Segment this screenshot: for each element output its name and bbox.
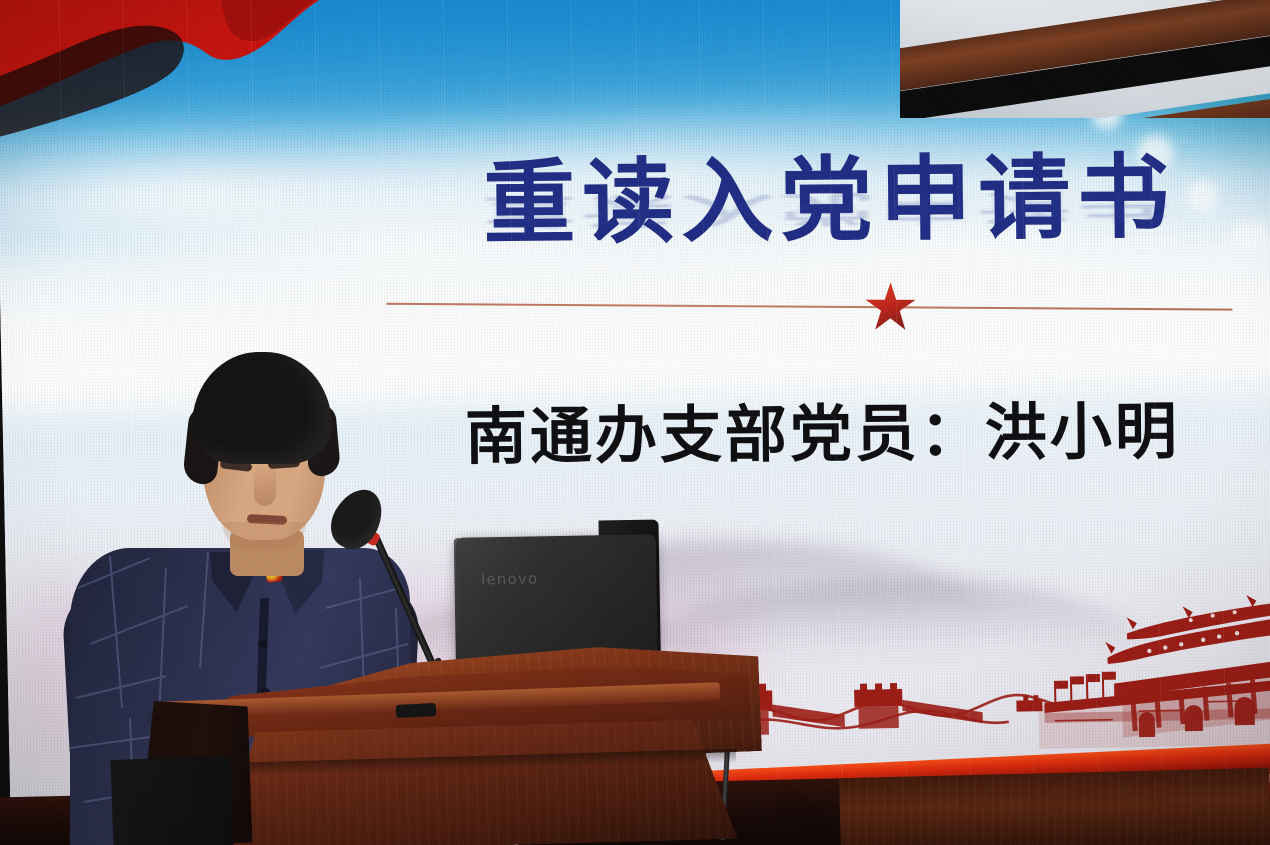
great-wall-tiananmen-artwork xyxy=(696,594,1270,756)
shirt-button-upper xyxy=(258,640,267,649)
lenovo-logo: lenovo xyxy=(481,570,539,589)
slide-main-title: 重读入党申请书 xyxy=(483,147,1224,253)
lectern-front-panel xyxy=(214,719,737,845)
photograph: 重读入党申请书 重读入党申请书 南通办支部党员：洪小明 xyxy=(0,0,1270,845)
lectern-control-button[interactable] xyxy=(396,703,437,718)
stage-wood-floor xyxy=(839,768,1270,845)
slide-subtitle: 南通办支部党员：洪小明 xyxy=(465,381,1181,477)
nose xyxy=(254,468,276,506)
ceiling-area xyxy=(900,0,1270,118)
red-flag-wave-icon xyxy=(0,0,397,166)
slide-title-block: 重读入党申请书 重读入党申请书 xyxy=(483,147,1224,253)
hair xyxy=(192,352,332,464)
lectern-black-base xyxy=(110,756,233,845)
